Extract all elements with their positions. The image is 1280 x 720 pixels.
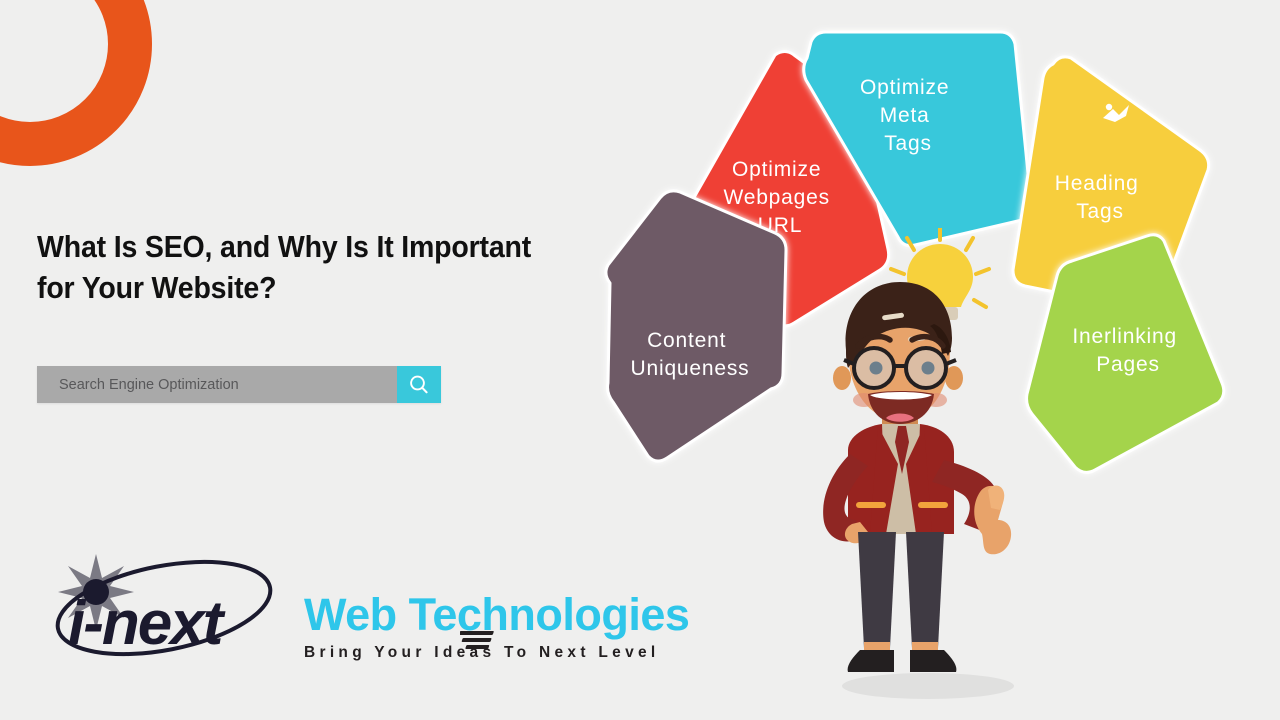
logo-wordmark: i-next — [68, 589, 226, 658]
wedge-content-uniqueness[interactable]: Content Uniqueness — [606, 191, 786, 461]
brand-wordmark: Web Technologies Bring Your Ideas To Nex… — [304, 592, 784, 662]
brand-logo[interactable]: i-next Web Technologies Bring Your Ideas… — [46, 548, 746, 674]
brand-tagline: Bring Your Ideas To Next Level — [304, 644, 784, 662]
page-title: What Is SEO, and Why Is It Important for… — [37, 226, 571, 308]
search-icon — [407, 373, 431, 397]
slide-canvas: What Is SEO, and Why Is It Important for… — [0, 0, 1280, 720]
character-pointing-hand — [974, 486, 1011, 555]
orange-ring-decoration — [0, 0, 152, 166]
character-legs — [858, 532, 944, 651]
search-bar[interactable] — [37, 366, 441, 403]
search-button[interactable] — [397, 366, 441, 403]
search-input[interactable] — [37, 366, 397, 403]
headline-line-1: What Is SEO, and Why Is It Important — [37, 226, 571, 267]
businessman-pointing-up-illustration — [812, 228, 1062, 708]
inext-logo-mark: i-next — [46, 548, 296, 668]
headline-line-2: for Your Website? — [37, 267, 571, 308]
brand-title: Web Technologies — [304, 592, 784, 637]
logo-speed-lines-icon — [460, 631, 494, 651]
character-shadow — [842, 673, 1014, 699]
character-shoes — [848, 650, 957, 672]
